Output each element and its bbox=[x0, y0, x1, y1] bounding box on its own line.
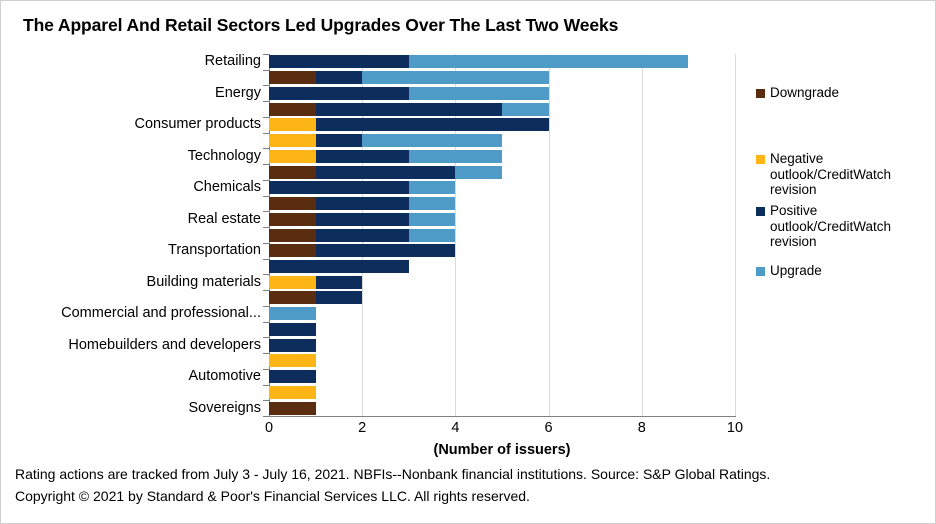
bar-row[interactable] bbox=[269, 166, 735, 179]
y-tick-20 bbox=[263, 369, 269, 370]
legend-swatch-negative-outlook-icon bbox=[756, 155, 765, 164]
bar-row[interactable] bbox=[269, 55, 735, 68]
bar-row[interactable] bbox=[269, 150, 735, 163]
bar-segment-upgrade[interactable] bbox=[502, 103, 549, 116]
bar-segment-positive_outlook[interactable] bbox=[316, 118, 549, 131]
bar-segment-upgrade[interactable] bbox=[362, 71, 548, 84]
bar-segment-negative_outlook[interactable] bbox=[269, 118, 316, 131]
bar-segment-upgrade[interactable] bbox=[409, 150, 502, 163]
bar-segment-positive_outlook[interactable] bbox=[316, 276, 363, 289]
bar-segment-downgrade[interactable] bbox=[269, 197, 316, 210]
bar-segment-upgrade[interactable] bbox=[362, 134, 502, 147]
bar-segment-positive_outlook[interactable] bbox=[269, 87, 409, 100]
bar-row[interactable] bbox=[269, 260, 735, 273]
bar-segment-positive_outlook[interactable] bbox=[316, 71, 363, 84]
bar-segment-positive_outlook[interactable] bbox=[316, 291, 363, 304]
plot-area bbox=[269, 54, 735, 416]
y-tick-7 bbox=[263, 164, 269, 165]
x-tick-label-6: 6 bbox=[529, 420, 569, 436]
bar-segment-upgrade[interactable] bbox=[269, 307, 316, 320]
y-axis-label-retailing: Retailing bbox=[11, 53, 261, 69]
y-tick-1 bbox=[263, 70, 269, 71]
bar-segment-negative_outlook[interactable] bbox=[269, 134, 316, 147]
bar-segment-upgrade[interactable] bbox=[409, 181, 456, 194]
bar-row[interactable] bbox=[269, 229, 735, 242]
y-axis-label-energy: Energy bbox=[11, 85, 261, 101]
bar-segment-upgrade[interactable] bbox=[455, 166, 502, 179]
y-tick-12 bbox=[263, 243, 269, 244]
bar-segment-positive_outlook[interactable] bbox=[316, 229, 409, 242]
x-axis-title: (Number of issuers) bbox=[269, 442, 735, 458]
bar-segment-positive_outlook[interactable] bbox=[269, 323, 316, 336]
bar-segment-downgrade[interactable] bbox=[269, 291, 316, 304]
bar-segment-downgrade[interactable] bbox=[269, 213, 316, 226]
bar-row[interactable] bbox=[269, 276, 735, 289]
y-axis-label-homebuilders-and-developers: Homebuilders and developers bbox=[11, 337, 261, 353]
bar-segment-positive_outlook[interactable] bbox=[316, 150, 409, 163]
bar-segment-positive_outlook[interactable] bbox=[269, 55, 409, 68]
bar-segment-downgrade[interactable] bbox=[269, 402, 316, 415]
bar-segment-positive_outlook[interactable] bbox=[316, 197, 409, 210]
bar-row[interactable] bbox=[269, 134, 735, 147]
legend-label: Downgrade bbox=[756, 85, 926, 101]
bar-segment-upgrade[interactable] bbox=[409, 213, 456, 226]
y-tick-11 bbox=[263, 227, 269, 228]
bar-segment-negative_outlook[interactable] bbox=[269, 354, 316, 367]
bar-row[interactable] bbox=[269, 197, 735, 210]
bar-row[interactable] bbox=[269, 339, 735, 352]
bar-segment-downgrade[interactable] bbox=[269, 103, 316, 116]
bar-segment-upgrade[interactable] bbox=[409, 229, 456, 242]
y-tick-15 bbox=[263, 290, 269, 291]
y-axis-category-labels: RetailingEnergyConsumer productsTechnolo… bbox=[9, 54, 261, 416]
bar-row[interactable] bbox=[269, 386, 735, 399]
bar-segment-positive_outlook[interactable] bbox=[316, 103, 502, 116]
y-tick-6 bbox=[263, 148, 269, 149]
y-tick-3 bbox=[263, 101, 269, 102]
bar-row[interactable] bbox=[269, 118, 735, 131]
bar-segment-positive_outlook[interactable] bbox=[316, 244, 456, 257]
y-tick-21 bbox=[263, 385, 269, 386]
bar-segment-downgrade[interactable] bbox=[269, 244, 316, 257]
bar-segment-positive_outlook[interactable] bbox=[316, 213, 409, 226]
bar-segment-negative_outlook[interactable] bbox=[269, 276, 316, 289]
y-tick-17 bbox=[263, 322, 269, 323]
y-tick-5 bbox=[263, 133, 269, 134]
bar-segment-downgrade[interactable] bbox=[269, 166, 316, 179]
y-axis-label-commercial-and-professional: Commercial and professional... bbox=[11, 305, 261, 321]
x-tick-label-4: 4 bbox=[435, 420, 475, 436]
bar-segment-negative_outlook[interactable] bbox=[269, 150, 316, 163]
gridline-x-10 bbox=[735, 54, 736, 416]
y-tick-end bbox=[263, 416, 269, 417]
legend-label: Upgrade bbox=[756, 263, 926, 279]
bar-segment-positive_outlook[interactable] bbox=[316, 134, 363, 147]
y-tick-8 bbox=[263, 180, 269, 181]
bar-row[interactable] bbox=[269, 291, 735, 304]
y-tick-10 bbox=[263, 211, 269, 212]
legend-item-upgrade[interactable]: Upgrade bbox=[756, 263, 926, 279]
legend-swatch-upgrade-icon bbox=[756, 267, 765, 276]
bar-row[interactable] bbox=[269, 213, 735, 226]
bar-segment-positive_outlook[interactable] bbox=[269, 370, 316, 383]
bar-row[interactable] bbox=[269, 87, 735, 100]
y-tick-0 bbox=[263, 54, 269, 55]
x-tick-label-2: 2 bbox=[342, 420, 382, 436]
legend-swatch-positive-outlook-icon bbox=[756, 207, 765, 216]
x-axis-line bbox=[269, 416, 736, 417]
bar-row[interactable] bbox=[269, 370, 735, 383]
y-tick-14 bbox=[263, 274, 269, 275]
bar-row[interactable] bbox=[269, 307, 735, 320]
x-tick-label-0: 0 bbox=[249, 420, 289, 436]
legend-swatch-downgrade-icon bbox=[756, 89, 765, 98]
bar-segment-downgrade[interactable] bbox=[269, 71, 316, 84]
bar-row[interactable] bbox=[269, 244, 735, 257]
bar-row[interactable] bbox=[269, 71, 735, 84]
y-tick-22 bbox=[263, 400, 269, 401]
y-tick-9 bbox=[263, 196, 269, 197]
chart-frame: The Apparel And Retail Sectors Led Upgra… bbox=[0, 0, 936, 524]
y-tick-13 bbox=[263, 259, 269, 260]
y-axis-label-consumer-products: Consumer products bbox=[11, 116, 261, 132]
footer-line-2: Copyright © 2021 by Standard & Poor's Fi… bbox=[15, 485, 925, 507]
bar-segment-downgrade[interactable] bbox=[269, 229, 316, 242]
y-axis-label-sovereigns: Sovereigns bbox=[11, 400, 261, 416]
y-tick-4 bbox=[263, 117, 269, 118]
bar-row[interactable] bbox=[269, 103, 735, 116]
bar-segment-positive_outlook[interactable] bbox=[316, 166, 456, 179]
legend-label: Positive outlook/CreditWatch revision bbox=[756, 203, 926, 250]
legend-item-positive-outlook[interactable]: Positive outlook/CreditWatch revision bbox=[756, 203, 926, 250]
bar-segment-upgrade[interactable] bbox=[409, 197, 456, 210]
bar-segment-positive_outlook[interactable] bbox=[269, 181, 409, 194]
y-axis-label-automotive: Automotive bbox=[11, 368, 261, 384]
bar-segment-upgrade[interactable] bbox=[409, 55, 689, 68]
bar-row[interactable] bbox=[269, 323, 735, 336]
y-tick-18 bbox=[263, 337, 269, 338]
page-title: The Apparel And Retail Sectors Led Upgra… bbox=[23, 15, 903, 36]
y-axis-label-transportation: Transportation bbox=[11, 242, 261, 258]
bar-segment-positive_outlook[interactable] bbox=[269, 339, 316, 352]
footer-line-1: Rating actions are tracked from July 3 -… bbox=[15, 463, 925, 485]
legend-label: Negative outlook/CreditWatch revision bbox=[756, 151, 926, 198]
bar-segment-negative_outlook[interactable] bbox=[269, 386, 316, 399]
legend-item-downgrade[interactable]: Downgrade bbox=[756, 85, 926, 101]
bar-row[interactable] bbox=[269, 402, 735, 415]
y-tick-16 bbox=[263, 306, 269, 307]
y-axis-label-building-materials: Building materials bbox=[11, 274, 261, 290]
y-axis-label-technology: Technology bbox=[11, 148, 261, 164]
bar-row[interactable] bbox=[269, 181, 735, 194]
footer-note: Rating actions are tracked from July 3 -… bbox=[15, 463, 925, 507]
y-tick-19 bbox=[263, 353, 269, 354]
legend-item-negative-outlook[interactable]: Negative outlook/CreditWatch revision bbox=[756, 151, 926, 198]
bar-row[interactable] bbox=[269, 354, 735, 367]
x-tick-label-10: 10 bbox=[715, 420, 755, 436]
y-tick-2 bbox=[263, 85, 269, 86]
y-axis-label-real-estate: Real estate bbox=[11, 211, 261, 227]
y-axis-label-chemicals: Chemicals bbox=[11, 179, 261, 195]
x-tick-label-8: 8 bbox=[622, 420, 662, 436]
bar-segment-upgrade[interactable] bbox=[409, 87, 549, 100]
bar-segment-positive_outlook[interactable] bbox=[269, 260, 409, 273]
